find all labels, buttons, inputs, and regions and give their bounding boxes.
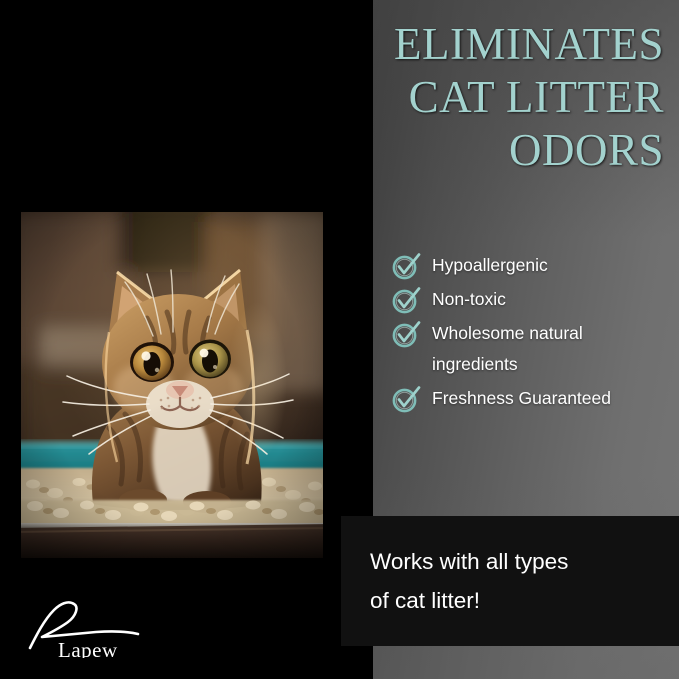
callout-text: Works with all types of cat litter! <box>370 542 660 620</box>
callout-line-1: Works with all types <box>370 542 660 581</box>
kitten-litter-box-photo <box>21 212 323 558</box>
benefits-list: Hypoallergenic Non-toxic Wholesome n <box>391 250 671 417</box>
list-item: Hypoallergenic <box>391 250 671 281</box>
headline-line-2: CAT LITTER <box>300 71 664 124</box>
headline: ELIMINATES CAT LITTER ODORS <box>300 18 664 177</box>
callout-box: Works with all types of cat litter! <box>341 516 679 646</box>
list-item: Freshness Guaranteed <box>391 383 671 414</box>
list-item: Wholesome natural ingredients <box>391 318 671 380</box>
product-ad-image: ELIMINATES CAT LITTER ODORS <box>0 0 679 679</box>
headline-line-3: ODORS <box>300 124 664 177</box>
benefit-label: Hypoallergenic <box>432 250 548 281</box>
check-circle-icon <box>391 285 421 315</box>
brand-wordmark: Lapew <box>58 638 118 658</box>
benefit-label: Wholesome natural ingredients <box>432 318 671 380</box>
callout-line-2: of cat litter! <box>370 581 660 620</box>
check-circle-icon <box>391 319 421 349</box>
benefit-label: Non-toxic <box>432 284 506 315</box>
headline-line-1: ELIMINATES <box>300 18 664 71</box>
list-item: Non-toxic <box>391 284 671 315</box>
check-circle-icon <box>391 384 421 414</box>
check-circle-icon <box>391 251 421 281</box>
benefit-label: Freshness Guaranteed <box>432 383 611 414</box>
kitten-photo-illustration <box>21 212 323 558</box>
brand-logo: Lapew <box>26 596 156 658</box>
lapew-logo-mark: Lapew <box>26 596 156 658</box>
